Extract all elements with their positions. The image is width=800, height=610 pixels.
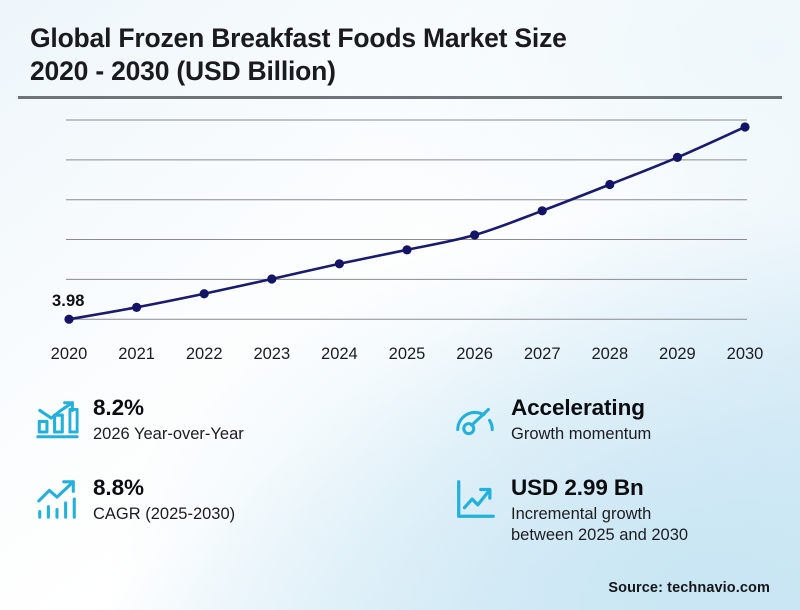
header: Global Frozen Breakfast Foods Market Siz… (30, 22, 770, 89)
x-axis-tick-label: 2022 (170, 345, 238, 364)
stat-label: CAGR (2025-2030) (93, 504, 235, 524)
x-axis-tick-label: 2024 (305, 345, 373, 364)
page-title: Global Frozen Breakfast Foods Market Siz… (30, 22, 770, 89)
stat-card-momentum: Accelerating Growth momentum (452, 394, 651, 445)
stats-section: 8.2% 2026 Year-over-Year 8.8% CAGR (2025… (0, 384, 800, 564)
stat-label: Growth momentum (511, 424, 651, 444)
stat-card-yoy: 8.2% 2026 Year-over-Year (34, 394, 244, 445)
stat-label: Incremental growth between 2025 and 2030 (511, 504, 688, 545)
first-point-value-label: 3.98 (52, 292, 85, 311)
chart-gridlines (66, 120, 747, 319)
x-axis-tick-label: 2028 (576, 345, 644, 364)
chart-data-point: 2027: 6.62 (538, 206, 547, 215)
x-axis-tick-label: 2027 (508, 345, 576, 364)
stat-text: Accelerating Growth momentum (511, 394, 651, 445)
stat-value: 8.8% (93, 475, 235, 501)
trend-up-chart-icon (34, 477, 80, 523)
chart-markers: 2020: 3.982021: 4.272022: 4.62023: 4.962… (64, 122, 749, 323)
chart-canvas: 2020: 3.982021: 4.272022: 4.62023: 4.962… (0, 108, 800, 370)
source-credit: Source: technavio.com (608, 580, 770, 596)
stat-text: USD 2.99 Bn Incremental growth between 2… (511, 474, 688, 545)
axis-trend-up-icon (452, 477, 498, 523)
x-axis-tick-label: 2026 (441, 345, 509, 364)
stat-card-incremental: USD 2.99 Bn Incremental growth between 2… (452, 474, 688, 545)
x-axis-tick-label: 2021 (103, 345, 171, 364)
x-axis-tick-label: 2023 (238, 345, 306, 364)
bar-chart-growth-icon (34, 397, 80, 443)
chart-data-point: 2021: 4.27 (132, 303, 141, 312)
chart-data-point: 2030: 8.66 (740, 122, 749, 131)
x-axis-tick-label: 2025 (373, 345, 441, 364)
stat-text: 8.8% CAGR (2025-2030) (93, 474, 235, 525)
stat-card-cagr: 8.8% CAGR (2025-2030) (34, 474, 235, 525)
chart-data-point: 2025: 5.67 (402, 245, 411, 254)
line-chart: 2020: 3.982021: 4.272022: 4.62023: 4.962… (0, 108, 800, 370)
speedometer-icon (452, 397, 498, 443)
x-axis-tick-label: 2029 (643, 345, 711, 364)
x-axis-tick-label: 2030 (711, 345, 779, 364)
stat-text: 8.2% 2026 Year-over-Year (93, 394, 244, 445)
stat-value: 8.2% (93, 395, 244, 421)
chart-data-point: 2020: 3.98 (64, 315, 73, 324)
chart-line-path (69, 127, 745, 319)
chart-data-point: 2029: 7.92 (673, 153, 682, 162)
chart-data-point: 2028: 7.26 (605, 180, 614, 189)
chart-data-point: 2022: 4.6 (200, 289, 209, 298)
stat-label: 2026 Year-over-Year (93, 424, 244, 444)
chart-x-axis: 2020202120222023202420252026202720282029… (0, 345, 800, 371)
chart-data-point: 2023: 4.96 (267, 274, 276, 283)
stat-value: Accelerating (511, 395, 651, 421)
stat-value: USD 2.99 Bn (511, 475, 688, 501)
x-axis-tick-label: 2020 (35, 345, 103, 364)
chart-data-point: 2024: 5.33 (335, 259, 344, 268)
header-divider (18, 96, 782, 99)
infographic-figure: Global Frozen Breakfast Foods Market Siz… (0, 0, 800, 610)
chart-data-point: 2026: 6.03 (470, 230, 479, 239)
